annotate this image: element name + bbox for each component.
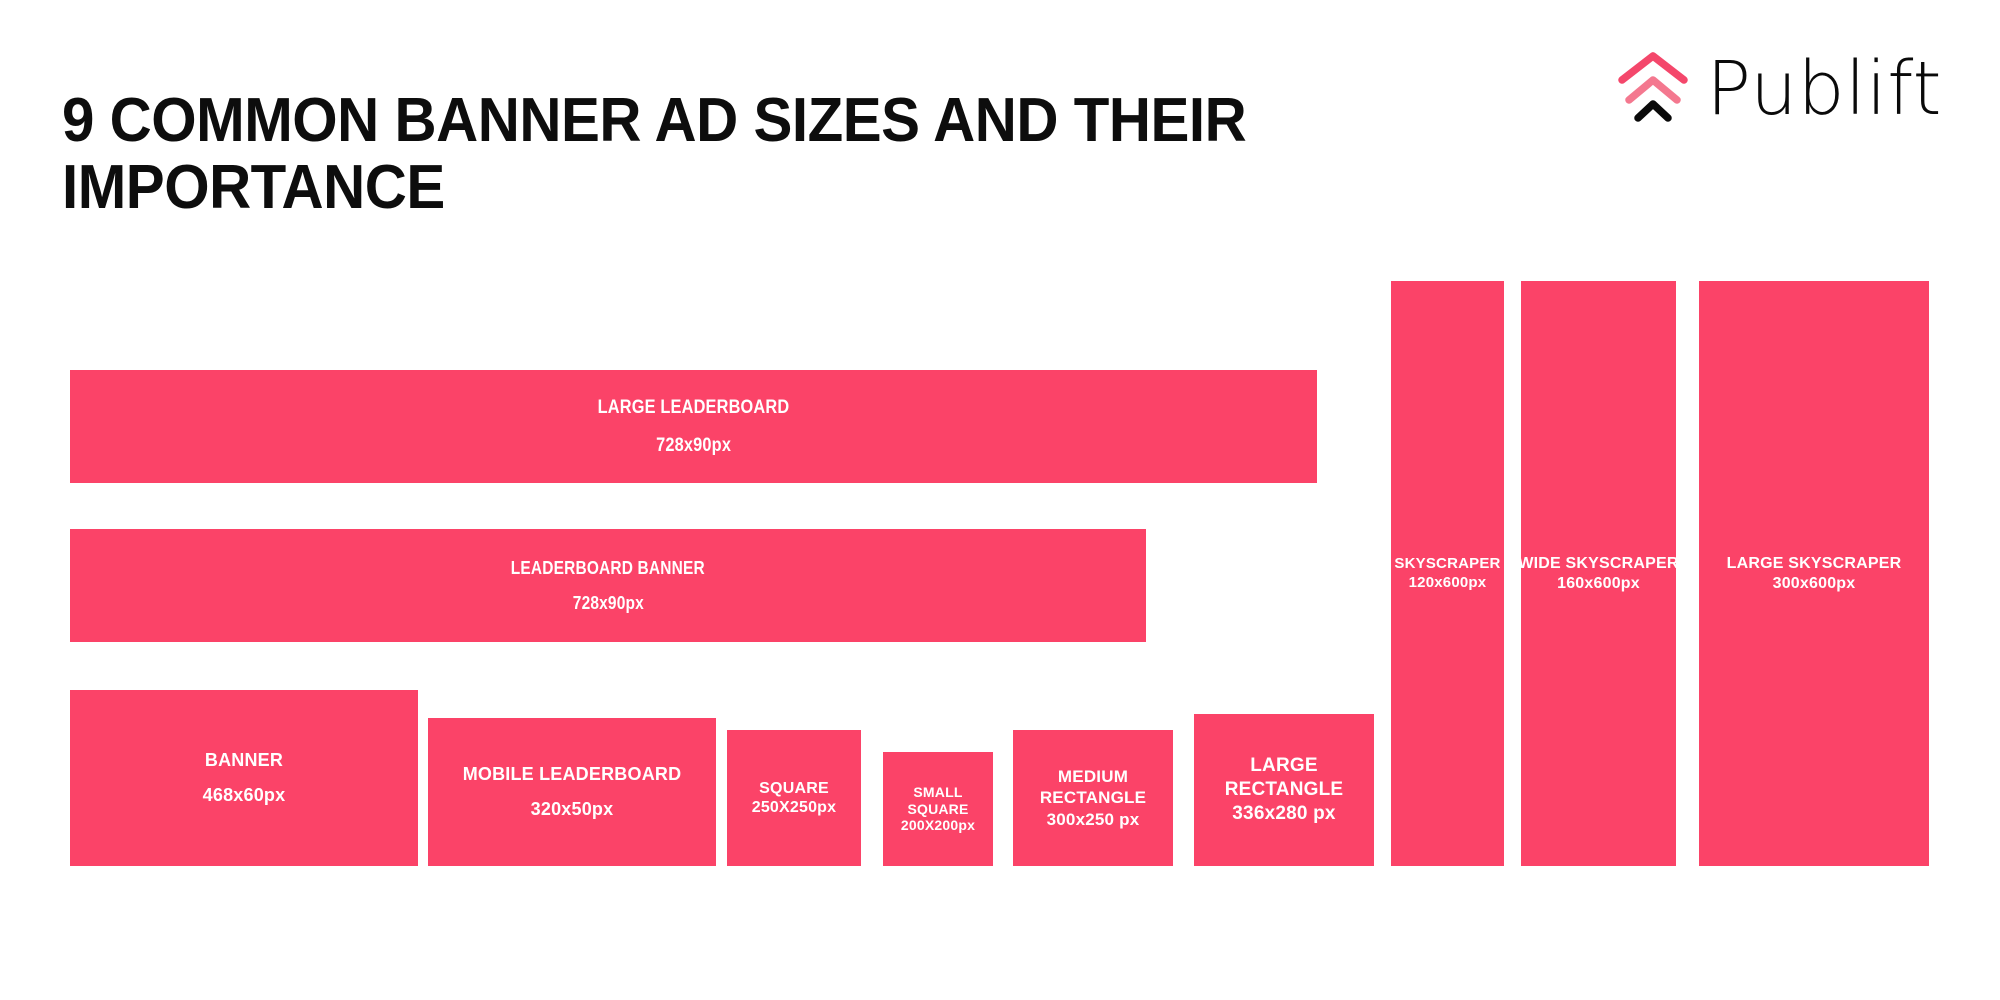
ad-label-dims: 300x250 px <box>1047 809 1140 830</box>
ad-box-skyscraper[interactable]: SKYSCRAPER 120x600px <box>1391 281 1504 866</box>
ad-label-dims: 160x600px <box>1557 574 1640 594</box>
ad-box-large-leaderboard[interactable]: LARGE LEADERBOARD 728x90px <box>70 370 1317 483</box>
ad-label-name: BANNER <box>205 750 283 771</box>
ad-size-diagram: LARGE LEADERBOARD 728x90px LEADERBOARD B… <box>0 0 2000 1000</box>
ad-label-name: LARGE LEADERBOARD <box>598 397 790 419</box>
ad-label-dims: 336x280 px <box>1232 802 1335 826</box>
ad-box-square[interactable]: SQUARE 250X250px <box>727 730 861 866</box>
ad-box-leaderboard-banner[interactable]: LEADERBOARD BANNER 728x90px <box>70 529 1146 642</box>
ad-label-name: SQUARE <box>759 779 829 798</box>
ad-label-dims: 728x90px <box>656 435 731 457</box>
ad-box-large-rectangle[interactable]: LARGE RECTANGLE 336x280 px <box>1194 714 1374 866</box>
ad-label-dims: 200X200px <box>901 817 975 834</box>
ad-label-dims: 728x90px <box>572 593 643 614</box>
ad-label-dims: 300x600px <box>1773 574 1856 594</box>
ad-box-wide-skyscraper[interactable]: WIDE SKYSCRAPER 160x600px <box>1521 281 1676 866</box>
ad-label-name: MEDIUM RECTANGLE <box>1013 766 1173 809</box>
infographic-canvas: 9 COMMON BANNER AD SIZES AND THEIR IMPOR… <box>0 0 2000 1000</box>
ad-label-name: LARGE SKYSCRAPER <box>1727 554 1902 574</box>
ad-box-small-square[interactable]: SMALL SQUARE 200X200px <box>883 752 993 866</box>
ad-label-name: SKYSCRAPER <box>1394 555 1500 573</box>
ad-label-name: LARGE RECTANGLE <box>1194 754 1374 802</box>
ad-box-mobile-leaderboard[interactable]: MOBILE LEADERBOARD 320x50px <box>428 718 716 866</box>
ad-box-medium-rectangle[interactable]: MEDIUM RECTANGLE 300x250 px <box>1013 730 1173 866</box>
ad-label-dims: 120x600px <box>1409 574 1487 592</box>
ad-label-dims: 320x50px <box>531 799 614 820</box>
ad-label-name: LEADERBOARD BANNER <box>511 558 705 579</box>
ad-label-name: MOBILE LEADERBOARD <box>463 764 682 785</box>
ad-label-dims: 250X250px <box>752 798 837 817</box>
ad-box-large-skyscraper[interactable]: LARGE SKYSCRAPER 300x600px <box>1699 281 1929 866</box>
ad-box-banner[interactable]: BANNER 468x60px <box>70 690 418 866</box>
ad-label-dims: 468x60px <box>203 785 286 806</box>
ad-label-name: WIDE SKYSCRAPER <box>1518 554 1678 574</box>
ad-label-name: SMALL SQUARE <box>883 784 993 818</box>
